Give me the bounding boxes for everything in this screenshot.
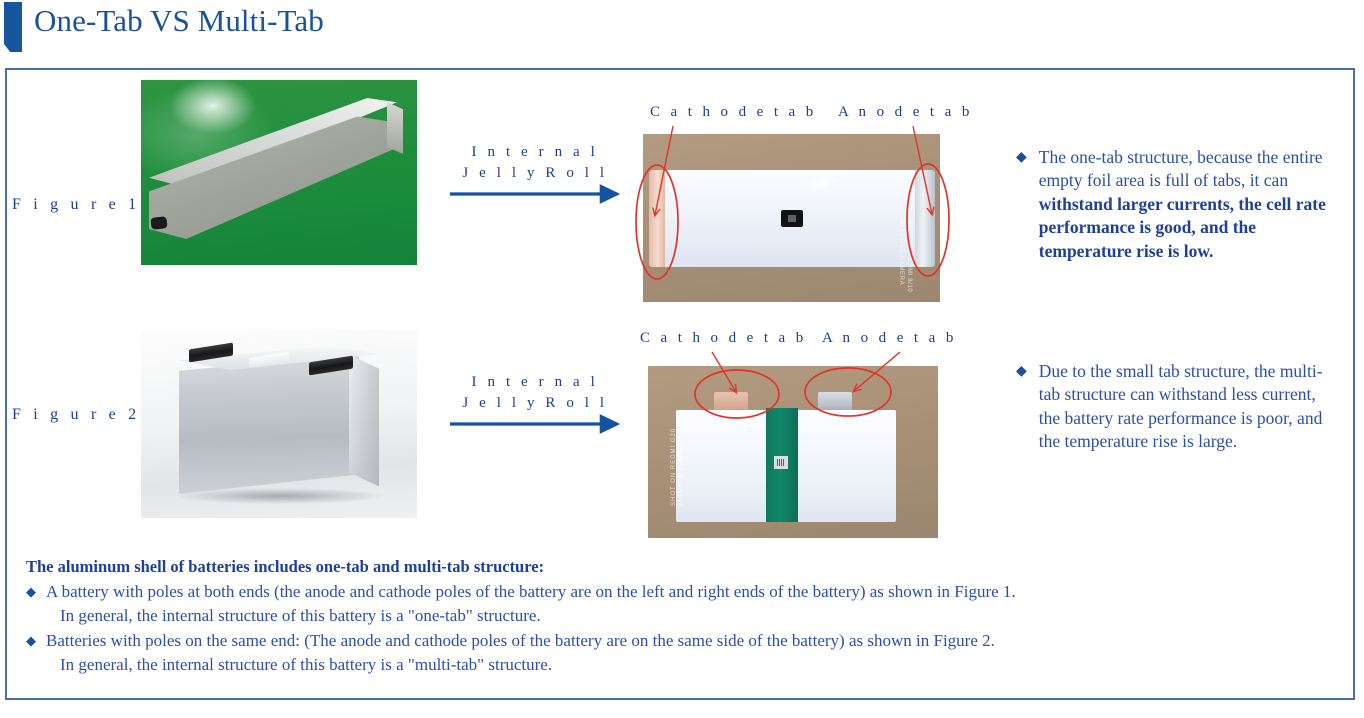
process-arrow-figure2: I n t e r n a l J e l l y R o l l [440, 372, 630, 414]
cad-front-face [179, 354, 359, 494]
anode-tab-label-figure1: A n o d e t a b [838, 104, 973, 121]
figure-2-label: F i g u r e 2 [12, 406, 140, 424]
process-line-1: I n t e r n a l [440, 142, 630, 163]
watermark-line-2: AI TRIPLE CAMERA [678, 428, 686, 506]
summary-line-2: In general, the internal structure of th… [46, 604, 1016, 628]
bullet-multi-tab: ◆ Due to the small tab structure, the mu… [1016, 360, 1338, 454]
diamond-bullet-icon: ◆ [26, 580, 36, 627]
photo-aluminum-shell-multi-tab [141, 330, 417, 518]
bullet-one-tab: ◆ The one-tab structure, because the ent… [1016, 146, 1338, 263]
bullet-plain-text: The one-tab structure, because the entir… [1039, 147, 1323, 190]
summary-line-1: Batteries with poles on the same end: (T… [46, 631, 995, 650]
cathode-foil-copper [649, 170, 665, 267]
cathode-tab-label-figure1: C a t h o d e t a b [650, 104, 817, 121]
shell-end-face [387, 102, 403, 154]
process-arrow-figure1: I n t e r n a l J e l l y R o l l [440, 142, 630, 184]
summary-item: ◆ A battery with poles at both ends (the… [26, 580, 1346, 627]
cathode-tab-label-figure2: C a t h o d e t a b [640, 330, 807, 347]
anode-tab-label-figure2: A n o d e t a b [822, 330, 957, 347]
diamond-bullet-icon: ◆ [26, 629, 36, 676]
shell-terminal [150, 216, 167, 230]
photo-jelly-roll-one-tab: SHOT ON REDMI 8/10 AI TRIPLE CAMERA [643, 134, 940, 302]
watermark-line-1: SHOT ON REDMI G20 [670, 428, 678, 506]
title-flag-icon [4, 2, 22, 52]
summary-section: The aluminum shell of batteries includes… [26, 556, 1346, 676]
process-line-2: J e l l y R o l l [440, 393, 630, 414]
figure-1-label: F i g u r e 1 [12, 196, 140, 214]
photo-jelly-roll-multi-tab: SHOT ON REDMI G20 AI TRIPLE CAMERA [648, 366, 938, 538]
camera-watermark: SHOT ON REDMI 8/10 AI TRIPLE CAMERA [897, 220, 913, 292]
watermark-line-2: AI TRIPLE CAMERA [897, 220, 905, 292]
summary-line-1: A battery with poles at both ends (the a… [46, 582, 1016, 601]
jelly-roll-label [781, 210, 803, 227]
summary-heading: The aluminum shell of batteries includes… [26, 556, 1346, 578]
photo-aluminum-shell-one-tab [141, 80, 417, 265]
camera-watermark: SHOT ON REDMI G20 AI TRIPLE CAMERA [670, 428, 686, 506]
summary-item-text: Batteries with poles on the same end: (T… [46, 629, 995, 676]
process-line-1: I n t e r n a l [440, 372, 630, 393]
summary-item: ◆ Batteries with poles on the same end: … [26, 629, 1346, 676]
summary-item-text: A battery with poles at both ends (the a… [46, 580, 1016, 627]
watermark-line-1: SHOT ON REDMI 8/10 [905, 220, 913, 292]
process-line-2: J e l l y R o l l [440, 163, 630, 184]
bullet-bold-text: withstand larger currents, the cell rate… [1039, 194, 1326, 261]
bullet-multi-tab-text: Due to the small tab structure, the mult… [1039, 360, 1338, 454]
title-bar: One-Tab VS Multi-Tab [0, 0, 1364, 58]
page-title: One-Tab VS Multi-Tab [34, 3, 324, 39]
diamond-bullet-icon: ◆ [1016, 360, 1027, 454]
cad-side-face [349, 352, 379, 492]
jelly-roll-label [774, 456, 788, 469]
summary-line-2: In general, the internal structure of th… [46, 653, 995, 677]
bullet-one-tab-text: The one-tab structure, because the entir… [1039, 146, 1338, 263]
anode-foil-aluminum [915, 170, 935, 267]
diamond-bullet-icon: ◆ [1016, 146, 1027, 263]
